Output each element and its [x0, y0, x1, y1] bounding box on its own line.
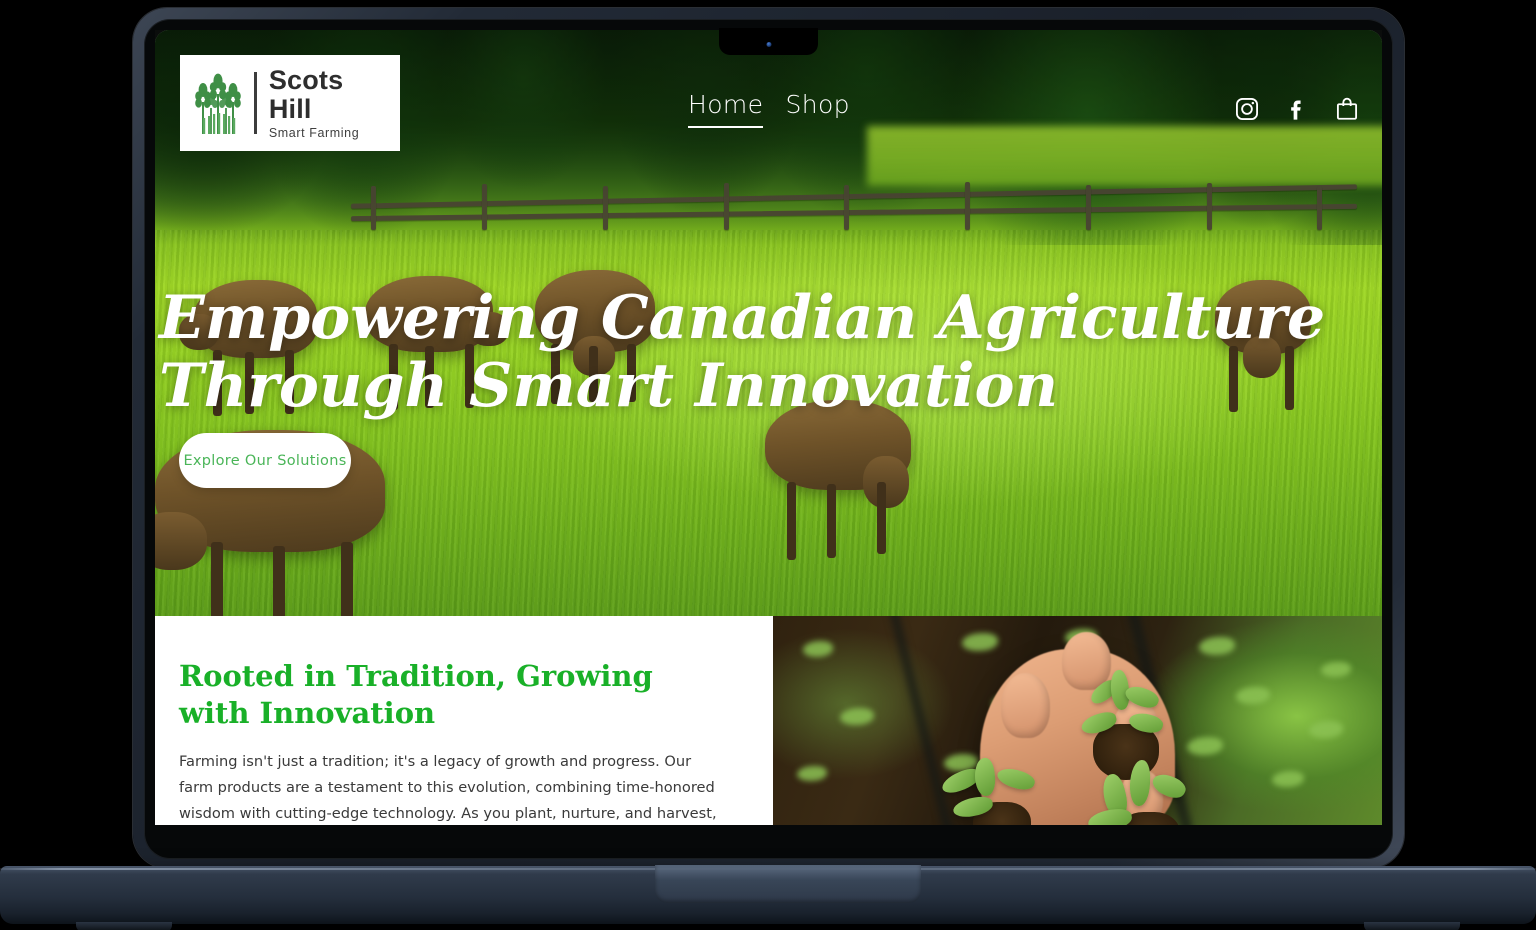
laptop-foot-right [1364, 922, 1460, 930]
about-heading: Rooted in Tradition, Growing with Innova… [179, 658, 725, 732]
about-body: Farming isn't just a tradition; it's a l… [179, 749, 725, 825]
main-navigation: Home Shop [688, 90, 850, 128]
about-section: Rooted in Tradition, Growing with Innova… [155, 616, 1382, 825]
facebook-link[interactable] [1284, 96, 1310, 122]
nav-item-home[interactable]: Home [688, 90, 763, 128]
laptop-foot-left [76, 922, 172, 930]
wheat-stalks-icon [194, 72, 250, 134]
base-thumb-notch [655, 865, 921, 903]
cart-link[interactable] [1334, 96, 1360, 122]
laptop-mockup: Scots Hill Smart Farming Home Shop [0, 0, 1536, 930]
hero-title: Empowering Canadian Agriculture Through … [159, 285, 1359, 421]
seedling-plant [1078, 754, 1228, 825]
laptop-base [0, 866, 1536, 924]
brand-name: Scots Hill [269, 66, 386, 123]
website-viewport: Scots Hill Smart Farming Home Shop [155, 30, 1382, 825]
about-image [773, 616, 1382, 825]
brand-tagline: Smart Farming [269, 126, 386, 140]
hero-section: Scots Hill Smart Farming Home Shop [155, 30, 1382, 616]
facebook-icon [1284, 96, 1310, 122]
logo-divider [254, 72, 257, 134]
nav-item-shop[interactable]: Shop [785, 90, 849, 126]
brand-logo[interactable]: Scots Hill Smart Farming [180, 55, 400, 151]
webcam-icon [766, 42, 771, 47]
instagram-link[interactable] [1234, 96, 1260, 122]
camera-notch [719, 28, 818, 55]
laptop-screen: Scots Hill Smart Farming Home Shop [155, 30, 1382, 825]
shopping-bag-icon [1334, 96, 1360, 122]
instagram-icon [1234, 96, 1260, 122]
social-links [1234, 96, 1360, 122]
about-text-column: Rooted in Tradition, Growing with Innova… [155, 616, 773, 825]
explore-solutions-button[interactable]: Explore Our Solutions [179, 433, 351, 488]
seedling-plant [937, 750, 1077, 825]
